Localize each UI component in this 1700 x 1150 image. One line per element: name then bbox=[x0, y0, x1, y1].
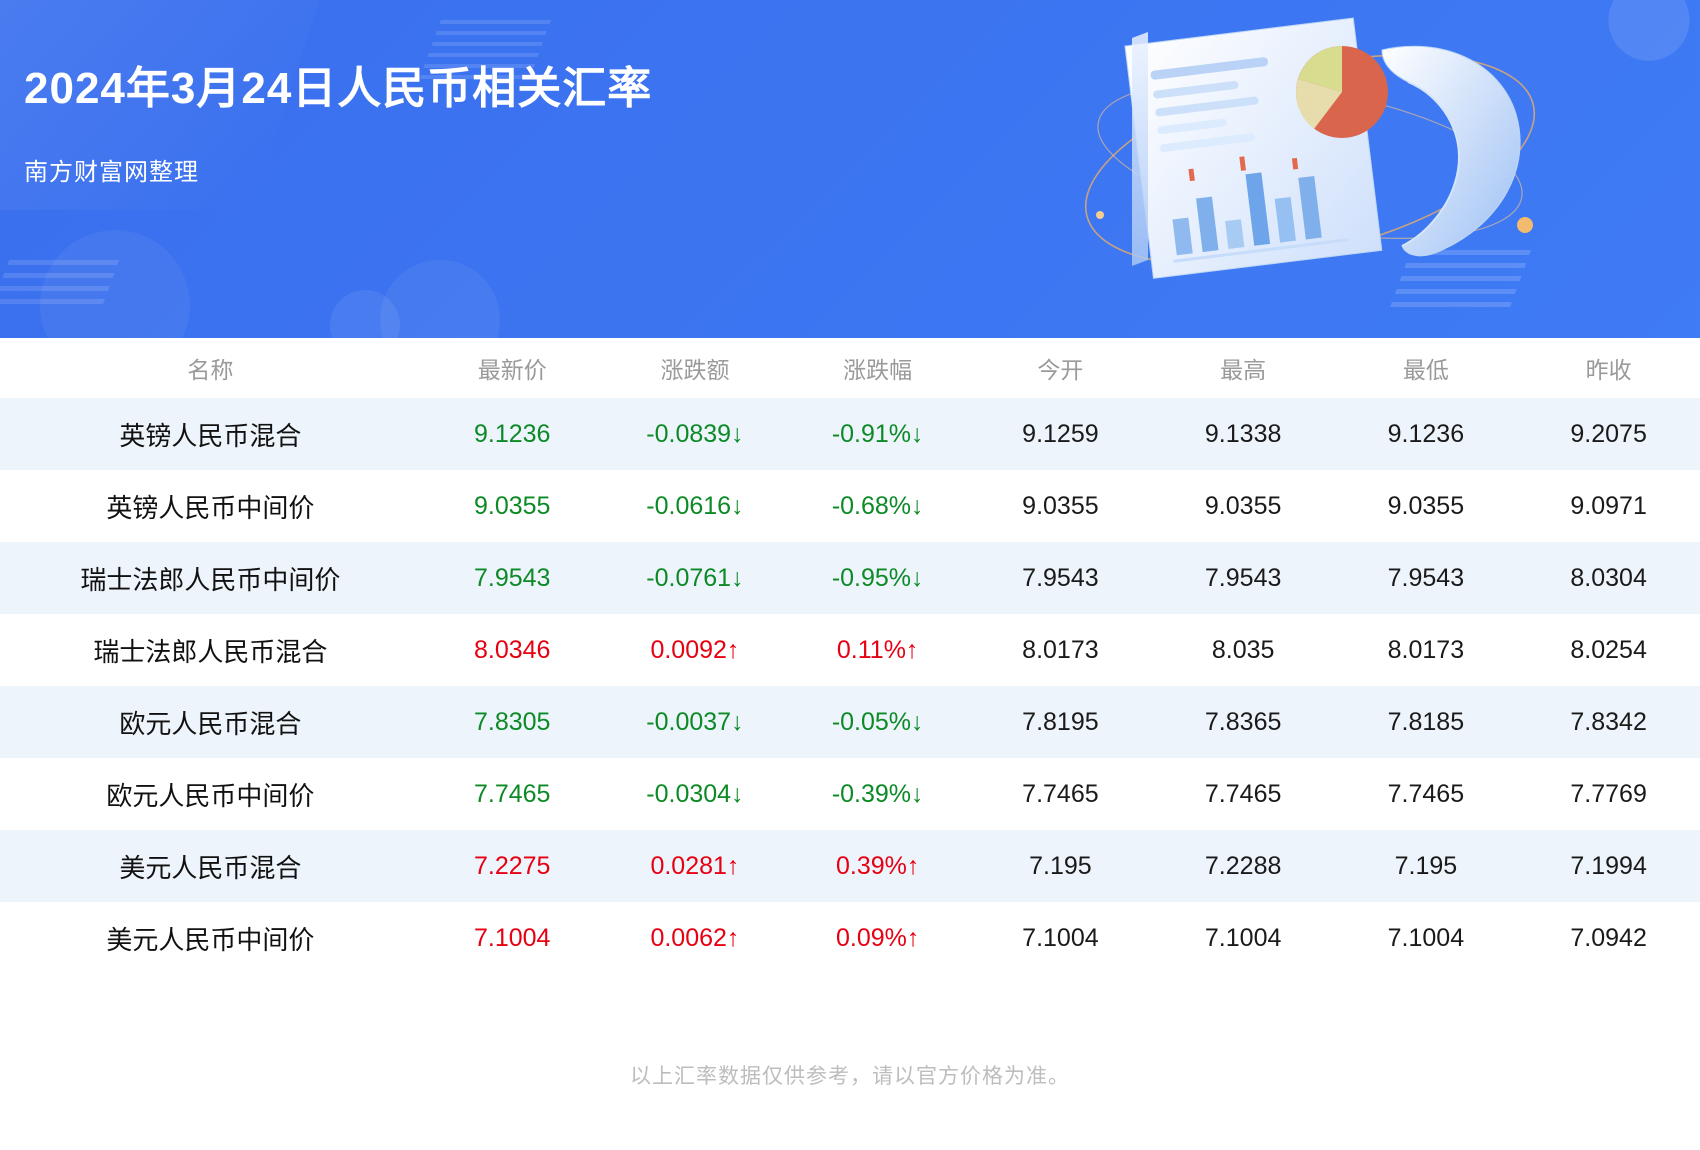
cell-last-price: 7.8305 bbox=[421, 686, 604, 758]
column-header-low[interactable]: 最低 bbox=[1335, 338, 1518, 398]
cell-open: 7.9543 bbox=[969, 542, 1152, 614]
column-header-pct[interactable]: 涨跌幅 bbox=[786, 338, 969, 398]
cell-change-amount: -0.0839↓ bbox=[604, 398, 787, 470]
cell-last-price: 7.7465 bbox=[421, 758, 604, 830]
cell-change-percent: -0.91%↓ bbox=[786, 398, 969, 470]
cell-change-percent: -0.95%↓ bbox=[786, 542, 969, 614]
decorative-circle-3 bbox=[330, 290, 400, 338]
cell-change-percent: -0.68%↓ bbox=[786, 470, 969, 542]
cell-low: 8.0173 bbox=[1335, 614, 1518, 686]
cell-high: 7.7465 bbox=[1152, 758, 1335, 830]
cell-name: 瑞士法郎人民币混合 bbox=[0, 614, 421, 686]
decorative-circle-2 bbox=[380, 260, 500, 338]
cell-low: 7.195 bbox=[1335, 830, 1518, 902]
cell-change-percent: -0.05%↓ bbox=[786, 686, 969, 758]
cell-name: 欧元人民币混合 bbox=[0, 686, 421, 758]
cell-change-amount: 0.0062↑ bbox=[604, 902, 787, 974]
cell-high: 7.8365 bbox=[1152, 686, 1335, 758]
cell-change-amount: -0.0304↓ bbox=[604, 758, 787, 830]
page-subtitle: 南方财富网整理 bbox=[24, 152, 199, 187]
table-row[interactable]: 瑞士法郎人民币中间价7.9543-0.0761↓-0.95%↓7.95437.9… bbox=[0, 542, 1700, 614]
cell-open: 7.7465 bbox=[969, 758, 1152, 830]
cell-prev-close: 9.0971 bbox=[1517, 470, 1700, 542]
header-banner: 2024年3月24日人民币相关汇率 南方财富网整理 bbox=[0, 0, 1700, 338]
exchange-rate-table: 名称 最新价 涨跌额 涨跌幅 今开 最高 最低 昨收 英镑人民币混合9.1236… bbox=[0, 338, 1700, 974]
cell-prev-close: 9.2075 bbox=[1517, 398, 1700, 470]
cell-high: 7.9543 bbox=[1152, 542, 1335, 614]
column-header-last[interactable]: 最新价 bbox=[421, 338, 604, 398]
cell-open: 7.8195 bbox=[969, 686, 1152, 758]
table-row[interactable]: 欧元人民币中间价7.7465-0.0304↓-0.39%↓7.74657.746… bbox=[0, 758, 1700, 830]
report-illustration-icon bbox=[1070, 10, 1550, 310]
cell-change-amount: 0.0281↑ bbox=[604, 830, 787, 902]
table-row[interactable]: 美元人民币中间价7.10040.0062↑0.09%↑7.10047.10047… bbox=[0, 902, 1700, 974]
cell-open: 9.1259 bbox=[969, 398, 1152, 470]
cell-change-amount: -0.0037↓ bbox=[604, 686, 787, 758]
cell-open: 7.1004 bbox=[969, 902, 1152, 974]
table-row[interactable]: 英镑人民币混合9.1236-0.0839↓-0.91%↓9.12599.1338… bbox=[0, 398, 1700, 470]
cell-last-price: 9.0355 bbox=[421, 470, 604, 542]
cell-low: 9.1236 bbox=[1335, 398, 1518, 470]
cell-high: 7.2288 bbox=[1152, 830, 1335, 902]
cell-last-price: 7.2275 bbox=[421, 830, 604, 902]
cell-high: 7.1004 bbox=[1152, 902, 1335, 974]
table-row[interactable]: 美元人民币混合7.22750.0281↑0.39%↑7.1957.22887.1… bbox=[0, 830, 1700, 902]
cell-change-amount: 0.0092↑ bbox=[604, 614, 787, 686]
cell-change-percent: -0.39%↓ bbox=[786, 758, 969, 830]
cell-open: 9.0355 bbox=[969, 470, 1152, 542]
table-header: 名称 最新价 涨跌额 涨跌幅 今开 最高 最低 昨收 bbox=[0, 338, 1700, 398]
column-header-open[interactable]: 今开 bbox=[969, 338, 1152, 398]
cell-last-price: 7.9543 bbox=[421, 542, 604, 614]
cell-prev-close: 7.1994 bbox=[1517, 830, 1700, 902]
cell-name: 欧元人民币中间价 bbox=[0, 758, 421, 830]
column-header-name[interactable]: 名称 bbox=[0, 338, 421, 398]
cell-low: 9.0355 bbox=[1335, 470, 1518, 542]
column-header-change[interactable]: 涨跌额 bbox=[604, 338, 787, 398]
cell-high: 8.035 bbox=[1152, 614, 1335, 686]
cell-high: 9.1338 bbox=[1152, 398, 1335, 470]
cell-high: 9.0355 bbox=[1152, 470, 1335, 542]
cell-prev-close: 8.0254 bbox=[1517, 614, 1700, 686]
table-header-row: 名称 最新价 涨跌额 涨跌幅 今开 最高 最低 昨收 bbox=[0, 338, 1700, 398]
page-title: 2024年3月24日人民币相关汇率 bbox=[24, 52, 652, 116]
cell-change-amount: -0.0761↓ bbox=[604, 542, 787, 614]
cell-change-percent: 0.39%↑ bbox=[786, 830, 969, 902]
cell-open: 8.0173 bbox=[969, 614, 1152, 686]
page-root: 2024年3月24日人民币相关汇率 南方财富网整理 bbox=[0, 0, 1700, 1150]
cell-last-price: 9.1236 bbox=[421, 398, 604, 470]
column-header-prevclose[interactable]: 昨收 bbox=[1517, 338, 1700, 398]
table-row[interactable]: 英镑人民币中间价9.0355-0.0616↓-0.68%↓9.03559.035… bbox=[0, 470, 1700, 542]
cell-low: 7.9543 bbox=[1335, 542, 1518, 614]
table-body: 英镑人民币混合9.1236-0.0839↓-0.91%↓9.12599.1338… bbox=[0, 398, 1700, 974]
column-header-high[interactable]: 最高 bbox=[1152, 338, 1335, 398]
cell-name: 美元人民币混合 bbox=[0, 830, 421, 902]
cell-low: 7.1004 bbox=[1335, 902, 1518, 974]
table-row[interactable]: 瑞士法郎人民币混合8.03460.0092↑0.11%↑8.01738.0358… bbox=[0, 614, 1700, 686]
table-row[interactable]: 欧元人民币混合7.8305-0.0037↓-0.05%↓7.81957.8365… bbox=[0, 686, 1700, 758]
cell-prev-close: 7.7769 bbox=[1517, 758, 1700, 830]
cell-change-amount: -0.0616↓ bbox=[604, 470, 787, 542]
cell-name: 美元人民币中间价 bbox=[0, 902, 421, 974]
cell-change-percent: 0.09%↑ bbox=[786, 902, 969, 974]
cell-last-price: 7.1004 bbox=[421, 902, 604, 974]
cell-name: 瑞士法郎人民币中间价 bbox=[0, 542, 421, 614]
cell-low: 7.7465 bbox=[1335, 758, 1518, 830]
cell-last-price: 8.0346 bbox=[421, 614, 604, 686]
cell-name: 英镑人民币中间价 bbox=[0, 470, 421, 542]
cell-change-percent: 0.11%↑ bbox=[786, 614, 969, 686]
exchange-rate-table-wrap: 名称 最新价 涨跌额 涨跌幅 今开 最高 最低 昨收 英镑人民币混合9.1236… bbox=[0, 338, 1700, 974]
cell-prev-close: 8.0304 bbox=[1517, 542, 1700, 614]
disclaimer-note: 以上汇率数据仅供参考，请以官方价格为准。 bbox=[0, 1060, 1700, 1090]
cell-low: 7.8185 bbox=[1335, 686, 1518, 758]
cell-open: 7.195 bbox=[969, 830, 1152, 902]
cell-prev-close: 7.0942 bbox=[1517, 902, 1700, 974]
cell-prev-close: 7.8342 bbox=[1517, 686, 1700, 758]
cell-name: 英镑人民币混合 bbox=[0, 398, 421, 470]
decorative-stripes-left bbox=[0, 260, 119, 310]
